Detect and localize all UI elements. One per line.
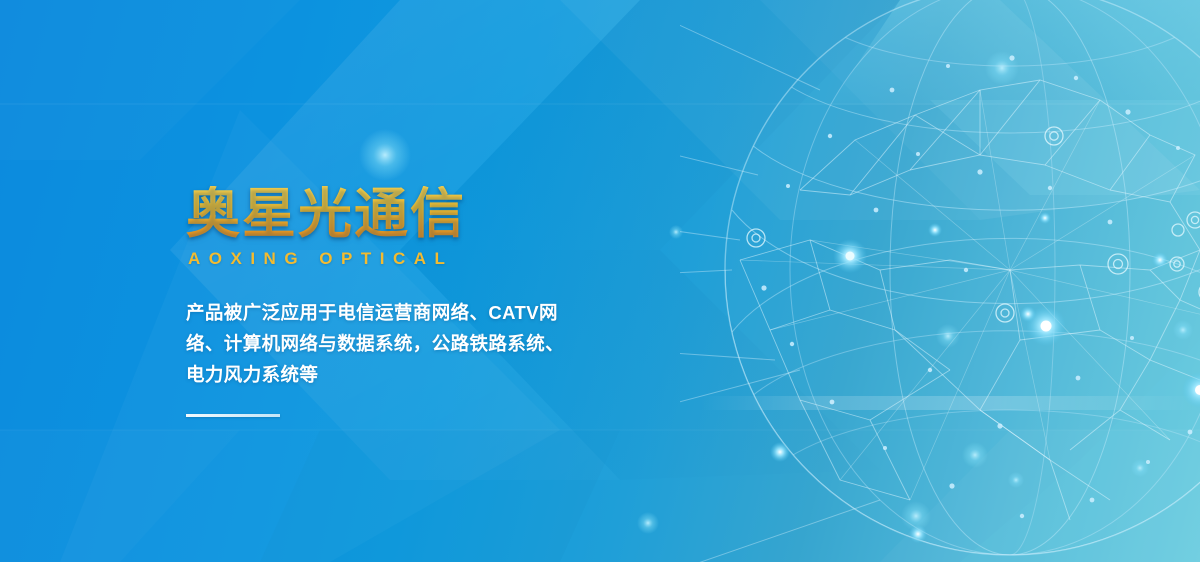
decorative-divider — [186, 414, 280, 417]
description-line-3: 电力风力系统等 — [186, 359, 656, 390]
description-line-2: 络、计算机网络与数据系统，公路铁路系统、 — [186, 328, 656, 359]
hero-banner: 奥星光通信 AOXING OPTICAL 产品被广泛应用于电信运营商网络、CAT… — [0, 0, 1200, 562]
hero-description: 产品被广泛应用于电信运营商网络、CATV网 络、计算机网络与数据系统，公路铁路系… — [186, 297, 656, 390]
hero-content: 奥星光通信 AOXING OPTICAL 产品被广泛应用于电信运营商网络、CAT… — [186, 186, 656, 417]
page-title: 奥星光通信 — [186, 186, 656, 243]
network-globe-graphic — [680, 0, 1200, 562]
description-line-1: 产品被广泛应用于电信运营商网络、CATV网 — [186, 297, 656, 328]
brand-subtitle-english: AOXING OPTICAL — [188, 249, 656, 269]
